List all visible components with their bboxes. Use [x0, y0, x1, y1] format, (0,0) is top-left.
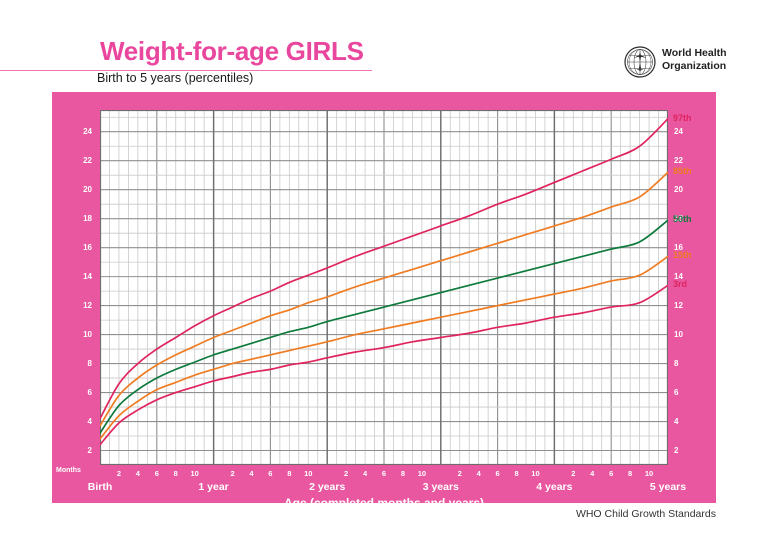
x-axis-month-tick: 8	[622, 469, 638, 478]
page-footer: WHO Child Growth Standards	[0, 505, 768, 543]
y-axis-tick-left: 10	[66, 330, 92, 339]
y-axis-tick-right: 12	[674, 301, 700, 310]
y-axis-tick-left: 22	[66, 156, 92, 165]
x-axis-year-label: 2 years	[292, 481, 362, 493]
footer-text: WHO Child Growth Standards	[576, 508, 716, 520]
y-axis-tick-left: 2	[66, 446, 92, 455]
percentile-label-3rd: 3rd	[673, 279, 687, 289]
y-axis-tick-left: 24	[66, 127, 92, 136]
x-axis-month-tick: 10	[187, 469, 203, 478]
page-title: Weight-for-age GIRLS	[100, 36, 364, 67]
x-axis-month-tick: 4	[130, 469, 146, 478]
who-logo-line1: World Health	[662, 47, 727, 59]
x-axis-month-tick: 2	[338, 469, 354, 478]
chart-svg	[100, 110, 668, 465]
x-axis-month-tick: 2	[111, 469, 127, 478]
x-axis-month-tick: 10	[641, 469, 657, 478]
chart-panel: Weight (kg) Months Age (completed months…	[52, 92, 716, 503]
x-axis-month-tick: 4	[471, 469, 487, 478]
x-axis-month-tick: 2	[565, 469, 581, 478]
x-axis-month-tick: 4	[243, 469, 259, 478]
who-logo-line2: Organization	[662, 60, 726, 72]
months-axis-label: Months	[56, 467, 81, 474]
y-axis-tick-right: 2	[674, 446, 700, 455]
page-subtitle: Birth to 5 years (percentiles)	[97, 71, 253, 85]
y-axis-tick-left: 6	[66, 388, 92, 397]
x-axis-month-tick: 6	[490, 469, 506, 478]
y-axis-title: Weight (kg)	[32, 182, 44, 242]
y-axis-tick-right: 10	[674, 330, 700, 339]
x-axis-month-tick: 8	[168, 469, 184, 478]
x-axis-month-tick: 10	[527, 469, 543, 478]
x-axis-year-label: 3 years	[406, 481, 476, 493]
y-axis-tick-left: 18	[66, 214, 92, 223]
growth-chart-plot	[100, 110, 668, 465]
who-logo-text: World Health Organization	[662, 47, 727, 73]
y-axis-tick-left: 12	[66, 301, 92, 310]
y-axis-tick-right: 4	[674, 417, 700, 426]
percentile-label-85th: 85th	[673, 166, 692, 176]
percentile-label-15th: 15th	[673, 250, 692, 260]
y-axis-tick-right: 20	[674, 185, 700, 194]
x-axis-month-tick: 4	[584, 469, 600, 478]
x-axis-month-tick: 6	[376, 469, 392, 478]
percentile-label-50th: 50th	[673, 214, 692, 224]
x-axis-month-tick: 8	[281, 469, 297, 478]
who-logo: World Health Organization	[624, 46, 754, 80]
x-axis-month-tick: 2	[225, 469, 241, 478]
x-axis-month-tick: 10	[300, 469, 316, 478]
y-axis-tick-right: 22	[674, 156, 700, 165]
y-axis-tick-left: 16	[66, 243, 92, 252]
x-axis-month-tick: 10	[414, 469, 430, 478]
y-axis-tick-right: 8	[674, 359, 700, 368]
y-axis-tick-right: 6	[674, 388, 700, 397]
x-axis-month-tick: 6	[603, 469, 619, 478]
x-axis-month-tick: 6	[149, 469, 165, 478]
x-axis-year-label: 5 years	[633, 481, 703, 493]
x-axis-year-label: Birth	[65, 481, 135, 493]
x-axis-month-tick: 8	[509, 469, 525, 478]
x-axis-year-label: 1 year	[179, 481, 249, 493]
y-axis-tick-right: 24	[674, 127, 700, 136]
y-axis-tick-left: 14	[66, 272, 92, 281]
y-axis-tick-left: 20	[66, 185, 92, 194]
percentile-label-97th: 97th	[673, 113, 692, 123]
page-header: Weight-for-age GIRLS Birth to 5 years (p…	[0, 0, 768, 92]
x-axis-month-tick: 4	[357, 469, 373, 478]
x-axis-month-tick: 8	[395, 469, 411, 478]
x-axis-month-tick: 6	[262, 469, 278, 478]
y-axis-tick-left: 4	[66, 417, 92, 426]
x-axis-year-label: 4 years	[519, 481, 589, 493]
who-emblem-icon	[624, 46, 656, 78]
y-axis-tick-left: 8	[66, 359, 92, 368]
x-axis-month-tick: 2	[452, 469, 468, 478]
